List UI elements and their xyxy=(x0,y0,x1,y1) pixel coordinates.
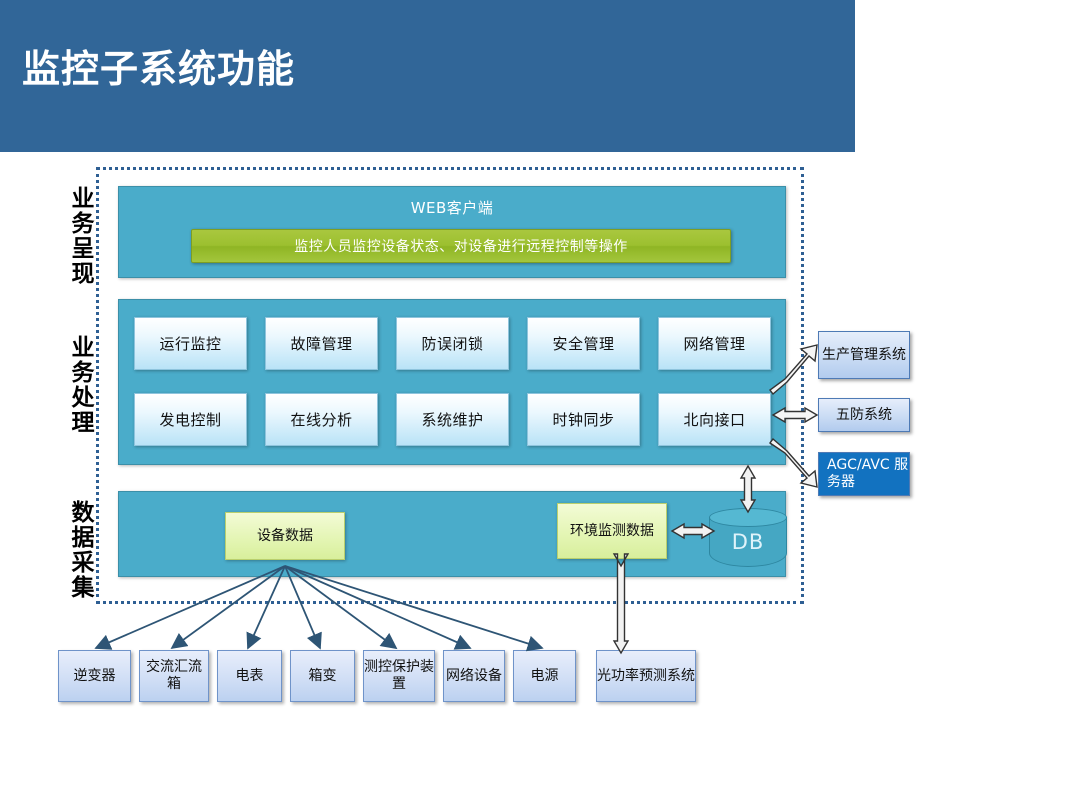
operator-description-box: 监控人员监控设备状态、对设备进行远程控制等操作 xyxy=(191,229,731,263)
source-box-ac-combiner[interactable]: 交流汇流箱 xyxy=(139,650,209,702)
database-cylinder[interactable]: DB xyxy=(709,508,787,570)
source-box-protection-device[interactable]: 测控保护装置 xyxy=(363,650,435,702)
database-top-ellipse xyxy=(709,508,787,527)
device-data-box[interactable]: 设备数据 xyxy=(225,512,345,560)
database-label: DB xyxy=(709,530,787,554)
function-cell-generation-control[interactable]: 发电控制 xyxy=(134,393,247,446)
function-cell-fault-management[interactable]: 故障管理 xyxy=(265,317,378,370)
presentation-layer-panel: WEB客户端 监控人员监控设备状态、对设备进行远程控制等操作 xyxy=(118,186,786,278)
function-cell-clock-sync[interactable]: 时钟同步 xyxy=(527,393,640,446)
layer-label-collection: 数据采集 xyxy=(58,495,92,605)
function-cell-system-maintenance[interactable]: 系统维护 xyxy=(396,393,509,446)
page-title: 监控子系统功能 xyxy=(22,38,295,93)
function-cell-misoperation-lockout[interactable]: 防误闭锁 xyxy=(396,317,509,370)
layer-label-processing: 业务处理 xyxy=(58,310,92,460)
title-banner: 监控子系统功能 xyxy=(0,0,855,152)
layer-label-presentation: 业务呈现 xyxy=(58,176,92,296)
source-box-meter[interactable]: 电表 xyxy=(217,650,282,702)
source-box-power-supply[interactable]: 电源 xyxy=(513,650,576,702)
function-cell-northbound-interface[interactable]: 北向接口 xyxy=(658,393,771,446)
collection-layer-panel xyxy=(118,491,786,577)
web-client-title: WEB客户端 xyxy=(119,197,785,218)
source-box-inverter[interactable]: 逆变器 xyxy=(58,650,131,702)
source-box-box-transformer[interactable]: 箱变 xyxy=(290,650,355,702)
external-system-production-management[interactable]: 生产管理系统 xyxy=(818,331,910,379)
external-system-five-prevention[interactable]: 五防系统 xyxy=(818,398,910,432)
function-cell-safety-management[interactable]: 安全管理 xyxy=(527,317,640,370)
function-cell-operation-monitoring[interactable]: 运行监控 xyxy=(134,317,247,370)
processing-layer-panel: 运行监控 故障管理 防误闭锁 安全管理 网络管理 发电控制 在线分析 系统维护 … xyxy=(118,299,786,465)
function-cell-network-management[interactable]: 网络管理 xyxy=(658,317,771,370)
external-system-agc-avc-server[interactable]: AGC/AVC 服务器 xyxy=(818,452,910,496)
source-box-power-forecast[interactable]: 光功率预测系统 xyxy=(596,650,696,702)
environment-data-box[interactable]: 环境监测数据 xyxy=(557,503,667,559)
function-cell-online-analysis[interactable]: 在线分析 xyxy=(265,393,378,446)
source-box-network-equipment[interactable]: 网络设备 xyxy=(443,650,505,702)
